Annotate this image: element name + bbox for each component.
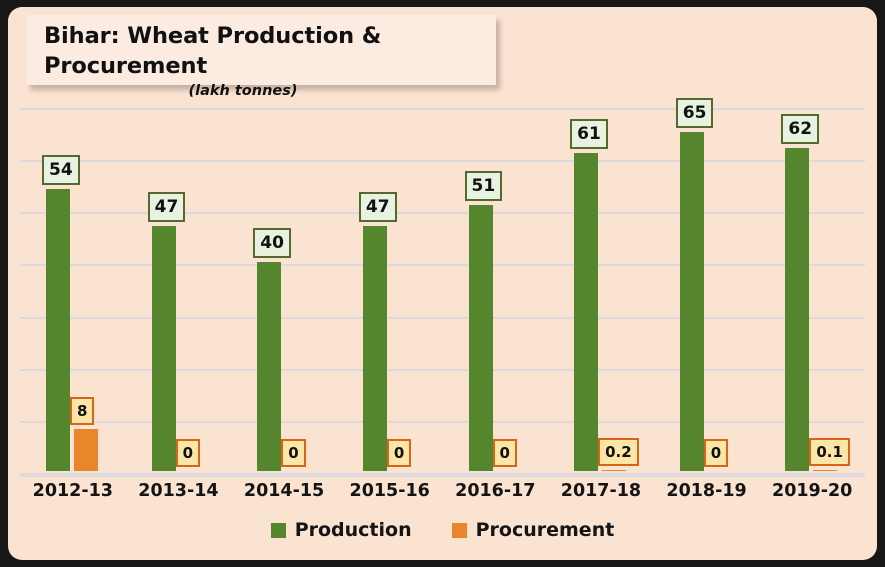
category-axis: 2012-132013-142014-152015-162016-172017-… [20, 481, 865, 511]
legend-item-production[interactable]: Production [271, 519, 412, 541]
procurement-value-label: 0.1 [809, 438, 850, 466]
bar-group: 470 [126, 85, 232, 475]
production-value-label: 47 [148, 192, 186, 222]
bar-group: 510 [443, 85, 549, 475]
chart-panel: Bihar: Wheat Production & Procurement (l… [8, 7, 877, 560]
production-bar[interactable] [152, 226, 176, 471]
procurement-value-label: 0 [176, 439, 200, 467]
procurement-value-label: 0 [704, 439, 728, 467]
production-value-label: 54 [42, 155, 80, 185]
production-swatch [271, 523, 286, 538]
production-bar[interactable] [46, 189, 70, 471]
bar-group: 470 [337, 85, 443, 475]
procurement-bar[interactable] [813, 470, 837, 471]
production-bar[interactable] [785, 148, 809, 471]
procurement-value-label: 0 [281, 439, 305, 467]
bar-group: 400 [231, 85, 337, 475]
legend-item-procurement[interactable]: Procurement [452, 519, 615, 541]
category-label: 2018-19 [654, 481, 760, 501]
procurement-value-label: 8 [70, 397, 94, 425]
production-bar[interactable] [469, 205, 493, 471]
category-label: 2016-17 [443, 481, 549, 501]
legend-label: Procurement [476, 519, 615, 541]
category-label: 2013-14 [126, 481, 232, 501]
production-value-label: 40 [253, 228, 291, 258]
production-bar[interactable] [680, 132, 704, 471]
production-bar[interactable] [257, 262, 281, 471]
production-value-label: 62 [781, 114, 819, 144]
chart-frame: Bihar: Wheat Production & Procurement (l… [0, 0, 885, 567]
chart-legend: ProductionProcurement [8, 519, 877, 541]
page-title: Bihar: Wheat Production & Procurement [40, 21, 486, 81]
category-label: 2012-13 [20, 481, 126, 501]
procurement-value-label: 0 [387, 439, 411, 467]
procurement-value-label: 0.2 [598, 438, 639, 466]
procurement-swatch [452, 523, 467, 538]
production-bar[interactable] [574, 153, 598, 471]
bar-group: 650 [654, 85, 760, 475]
production-value-label: 51 [465, 171, 503, 201]
category-label: 2014-15 [231, 481, 337, 501]
production-value-label: 65 [676, 98, 714, 128]
procurement-bar[interactable] [74, 429, 98, 471]
legend-label: Production [295, 519, 412, 541]
procurement-value-label: 0 [493, 439, 517, 467]
production-value-label: 47 [359, 192, 397, 222]
category-label: 2017-18 [548, 481, 654, 501]
bars-layer: 548470400470510610.2650620.1 [20, 87, 865, 477]
bar-group: 548 [20, 85, 126, 475]
plot-area: 548470400470510610.2650620.1 [20, 87, 865, 477]
production-bar[interactable] [363, 226, 387, 471]
bar-group: 620.1 [759, 85, 865, 475]
chart-title-box: Bihar: Wheat Production & Procurement (l… [26, 15, 496, 85]
bar-group: 610.2 [548, 85, 654, 475]
procurement-bar[interactable] [602, 470, 626, 471]
category-label: 2019-20 [759, 481, 865, 501]
category-label: 2015-16 [337, 481, 443, 501]
production-value-label: 61 [570, 119, 608, 149]
